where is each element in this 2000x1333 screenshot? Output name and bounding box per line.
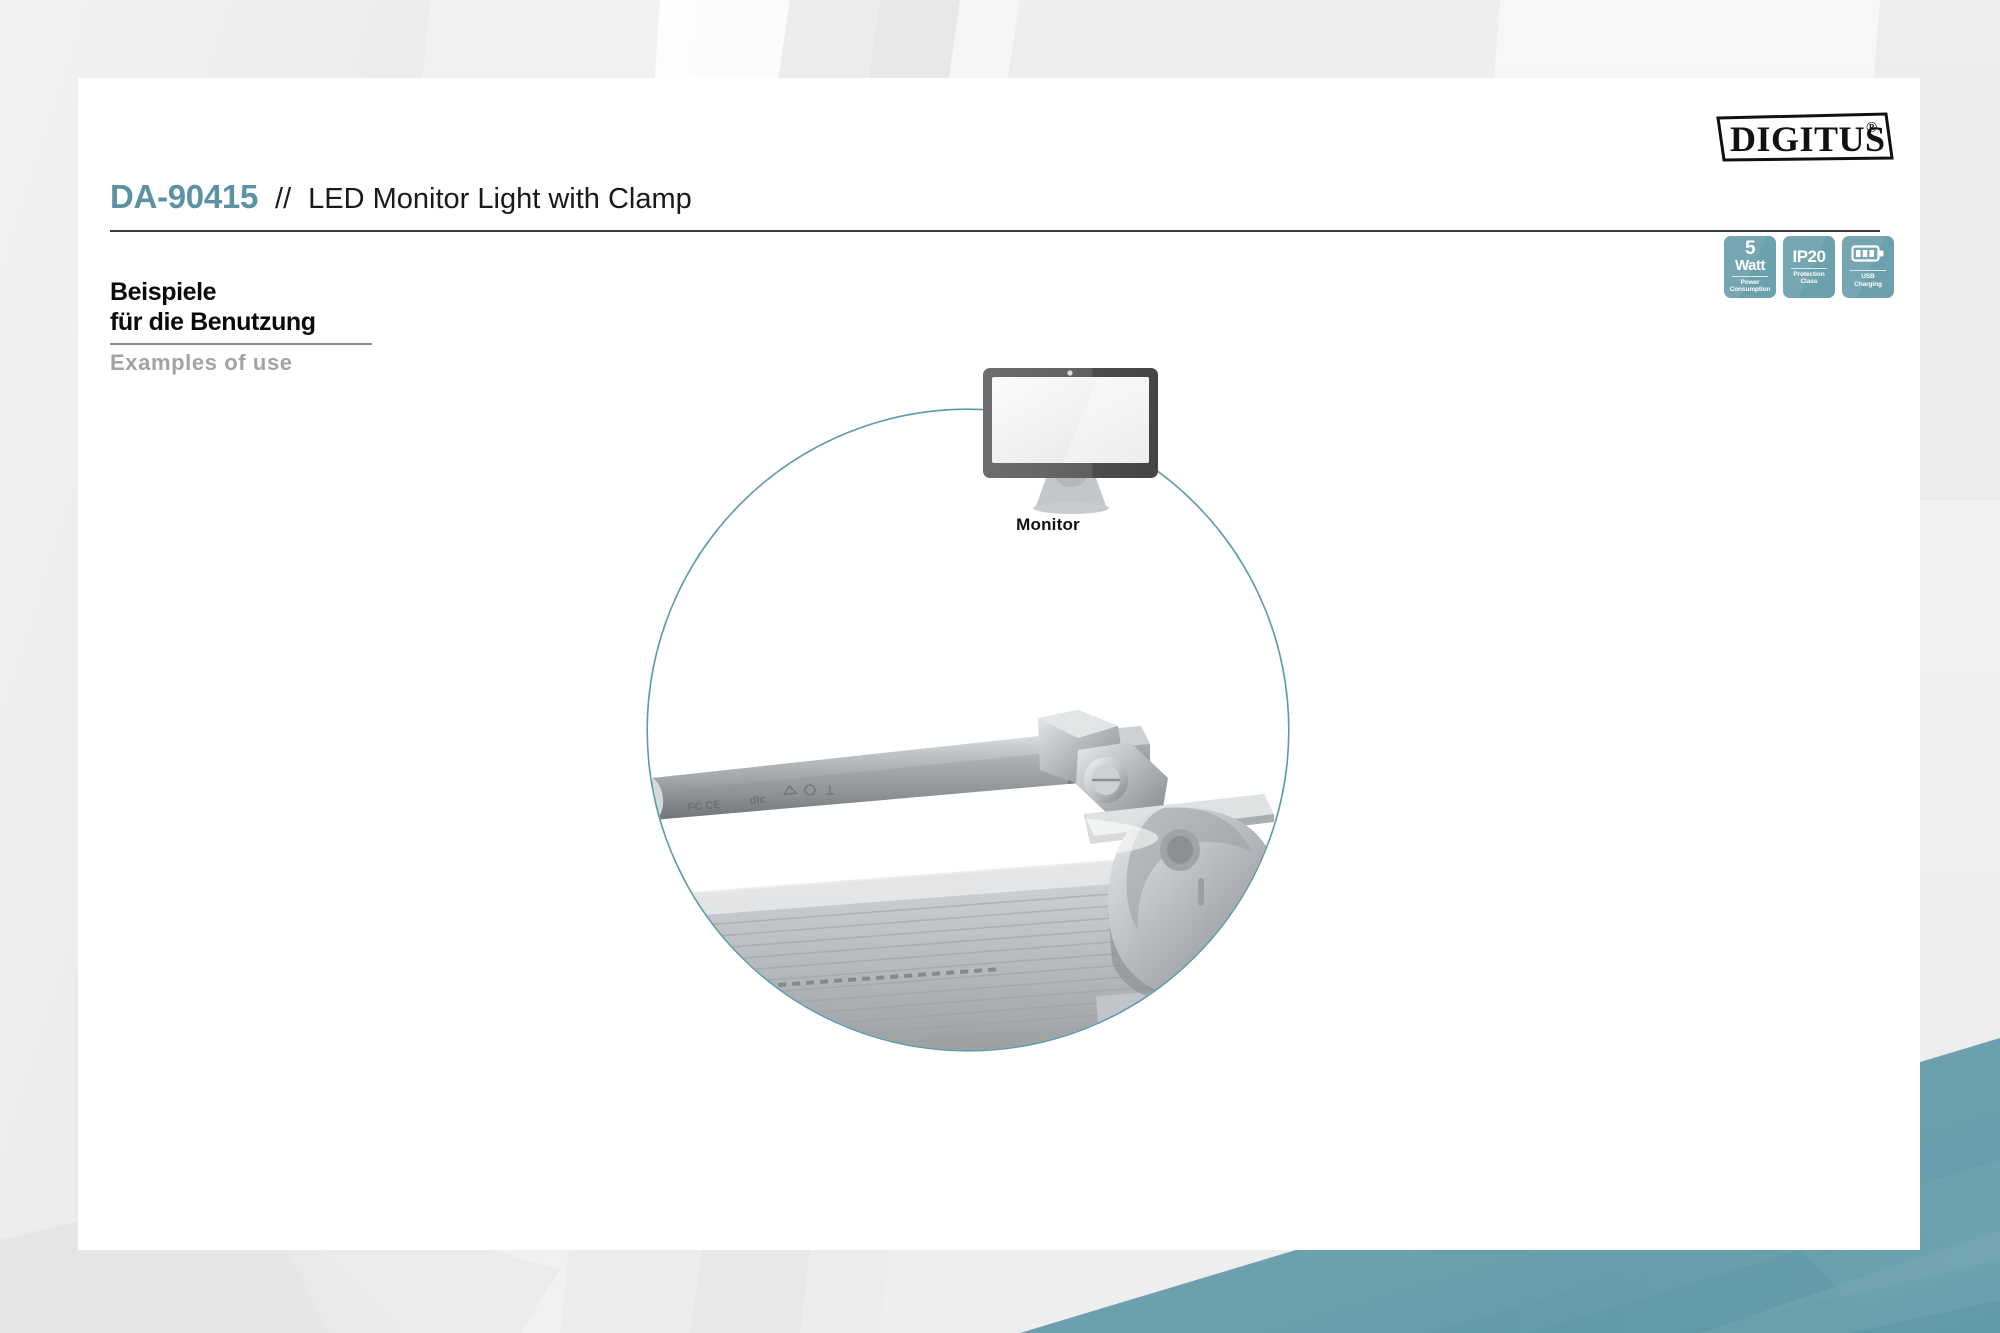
title-separator: // — [275, 183, 291, 216]
page-background: DIGITUS ® DA-90415 // LED Monitor Light … — [0, 0, 2000, 1333]
power-consumption-caption-1: Power — [1740, 279, 1759, 286]
feature-badges: 5 Watt Power Consumption IP20 Protection… — [1724, 236, 1894, 298]
svg-text:dlc: dlc — [749, 794, 766, 807]
title-divider — [110, 230, 1880, 232]
section-heading-de-line1: Beispiele — [110, 278, 530, 308]
led-monitor-light-clamp-photo: FC CE dlc — [618, 398, 1323, 1103]
power-consumption-value: 5 — [1745, 240, 1755, 258]
section-heading-de-line2: für die Benutzung — [110, 308, 530, 338]
protection-class-caption-1: Protection — [1793, 271, 1824, 278]
badge-divider — [1732, 276, 1768, 277]
logo-trademark: ® — [1866, 120, 1877, 136]
svg-text:FC CE: FC CE — [687, 799, 721, 814]
clamp-assembly — [1038, 710, 1278, 1001]
section-heading-en: Examples of use — [110, 350, 530, 376]
content-card: DIGITUS ® DA-90415 // LED Monitor Light … — [78, 78, 1920, 1250]
article-number: DA-90415 — [110, 178, 258, 216]
digitus-logo: DIGITUS ® — [1716, 108, 1894, 164]
power-consumption-caption-2: Consumption — [1730, 286, 1771, 293]
monitor-rear-shell — [638, 844, 1323, 1103]
usage-example-illustration: FC CE dlc — [78, 78, 1920, 1250]
section-heading-divider — [110, 343, 372, 345]
usb-charging-caption-1: USB — [1861, 273, 1874, 280]
power-consumption-unit: Watt — [1735, 258, 1765, 274]
section-heading: Beispiele für die Benutzung Examples of … — [110, 278, 530, 376]
logo-wordmark: DIGITUS — [1730, 119, 1886, 159]
badge-divider — [1791, 268, 1827, 269]
monitor-illustration — [983, 368, 1158, 514]
monitor-label: Monitor — [948, 515, 1148, 535]
usb-charging-badge: USB Charging — [1842, 236, 1894, 298]
usb-charging-caption-2: Charging — [1854, 281, 1882, 288]
protection-class-caption-2: Class — [1801, 278, 1818, 285]
product-title-row: DA-90415 // LED Monitor Light with Clamp — [110, 178, 1880, 222]
power-consumption-badge: 5 Watt Power Consumption — [1724, 236, 1776, 298]
application-circle — [648, 410, 1288, 1050]
badge-divider — [1850, 270, 1886, 271]
battery-icon — [1851, 245, 1885, 267]
led-light-bar: FC CE dlc — [635, 726, 1150, 822]
protection-class-value: IP20 — [1793, 248, 1826, 266]
protection-class-badge: IP20 Protection Class — [1783, 236, 1835, 298]
page-title: LED Monitor Light with Clamp — [308, 183, 692, 216]
